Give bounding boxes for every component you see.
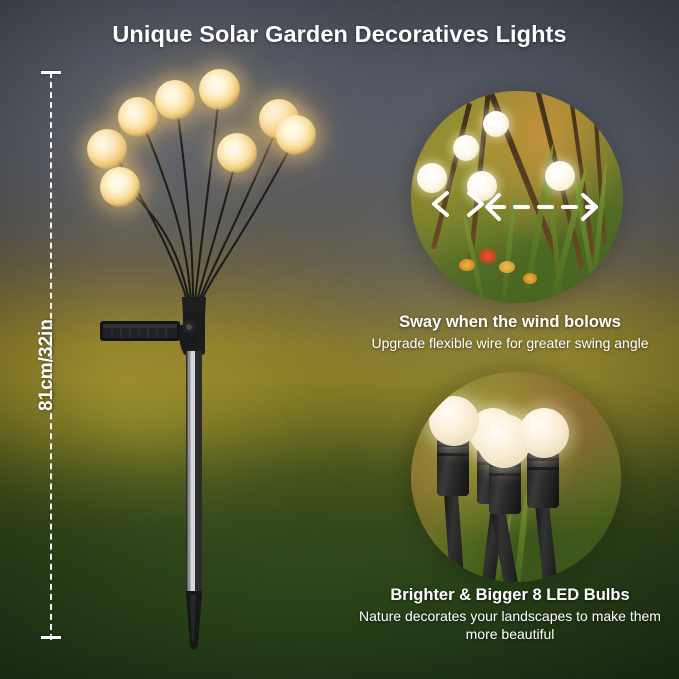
flower (459, 259, 475, 271)
product-bulb (100, 167, 140, 207)
product-infographic: Unique Solar Garden Decoratives Lights 8… (0, 0, 679, 679)
feature-subtext: Nature decorates your landscapes to make… (345, 608, 675, 644)
feature-subtext: Upgrade flexible wire for greater swing … (345, 335, 675, 353)
flower (499, 261, 515, 273)
bulb-post (534, 498, 557, 582)
flower (523, 273, 537, 284)
feature-inset-sway (411, 91, 623, 303)
ruler-cap-bottom (41, 636, 61, 639)
measurement-label: 81cm/32in (36, 295, 58, 435)
flower (479, 249, 497, 263)
page-title: Unique Solar Garden Decoratives Lights (0, 21, 679, 48)
feature-heading: Brighter & Bigger 8 LED Bulbs (345, 586, 675, 605)
product-bulb (276, 115, 316, 155)
measurement-ruler: 81cm/32in (41, 68, 61, 644)
feature-caption-sway: Sway when the wind bolows Upgrade flexib… (345, 313, 675, 353)
product-bulb (118, 97, 158, 137)
feature-inset-bulbs (411, 372, 621, 582)
product-bulb (199, 69, 240, 110)
product-bulb (87, 129, 127, 169)
inset-bulb (453, 135, 479, 161)
closeup-bulb (429, 396, 479, 446)
sway-arrow-long-dashed (483, 191, 601, 225)
product-image (60, 55, 330, 655)
inset-bulb (545, 161, 575, 191)
closeup-bulb (519, 408, 569, 458)
product-bulb (155, 80, 195, 120)
feature-caption-bulbs: Brighter & Bigger 8 LED Bulbs Nature dec… (345, 586, 675, 644)
socket-ring (437, 453, 469, 456)
inset-bulb (483, 111, 509, 137)
bulb-closeup-photo (411, 372, 621, 582)
socket-ring (527, 458, 559, 461)
feature-heading: Sway when the wind bolows (345, 313, 675, 332)
sway-arrow-short (429, 187, 489, 223)
garden-scene-photo (411, 91, 623, 303)
socket-ring (489, 473, 521, 476)
socket-ring (527, 467, 559, 470)
bulb-post (444, 488, 465, 582)
product-bulb (217, 133, 257, 173)
